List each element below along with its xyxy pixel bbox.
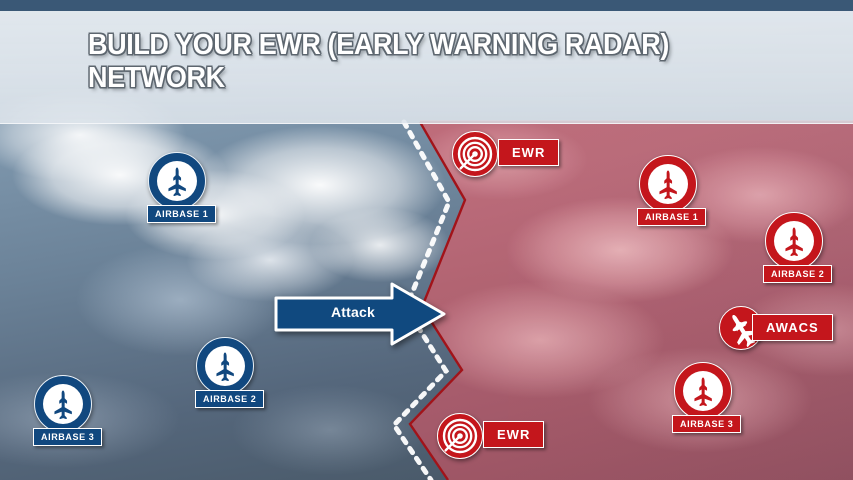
red-airbase-3-label: AIRBASE 3	[672, 415, 741, 433]
red-airbase-2-label: AIRBASE 2	[763, 265, 832, 283]
red-airbase-2-disc	[765, 212, 823, 270]
disc-inner	[774, 221, 814, 261]
attack-arrow-label: Attack	[312, 304, 394, 320]
disc-inner	[438, 414, 482, 458]
red-awacs-label: AWACS	[752, 314, 833, 341]
blue-airbase-1-disc	[148, 152, 206, 210]
disc-inner	[648, 164, 688, 204]
blue-airbase-2-marker[interactable]: AIRBASE 2	[196, 337, 254, 395]
fighter-jet-icon	[162, 166, 192, 196]
red-airbase-3-disc	[674, 362, 732, 420]
disc-inner	[205, 346, 245, 386]
fighter-jet-icon	[48, 389, 78, 419]
red-airbase-1-label: AIRBASE 1	[637, 208, 706, 226]
red-airbase-1-marker[interactable]: AIRBASE 1	[639, 155, 697, 213]
disc-inner	[157, 161, 197, 201]
red-airbase-1-disc	[639, 155, 697, 213]
disc-inner	[43, 384, 83, 424]
red-airbase-2-marker[interactable]: AIRBASE 2	[765, 212, 823, 270]
red-ewr-top-label: EWR	[498, 139, 559, 166]
fighter-jet-icon	[688, 376, 718, 406]
blue-airbase-2-disc	[196, 337, 254, 395]
blue-airbase-2-label: AIRBASE 2	[195, 390, 264, 408]
red-ewr-bottom-disc	[437, 413, 483, 459]
radar-icon	[440, 416, 480, 456]
disc-inner	[453, 132, 497, 176]
fighter-jet-icon	[210, 351, 240, 381]
attack-arrow[interactable]: Attack	[274, 282, 446, 346]
blue-airbase-3-disc	[34, 375, 92, 433]
radar-icon	[455, 134, 495, 174]
red-airbase-3-marker[interactable]: AIRBASE 3	[674, 362, 732, 420]
blue-airbase-1-label: AIRBASE 1	[147, 205, 216, 223]
slide-canvas: BUILD YOUR EWR (EARLY WARNING RADAR) NET…	[0, 0, 853, 480]
page-title: BUILD YOUR EWR (EARLY WARNING RADAR) NET…	[88, 29, 683, 95]
red-ewr-top-disc	[452, 131, 498, 177]
red-ewr-bottom-label: EWR	[483, 421, 544, 448]
red-awacs-marker[interactable]: AWACS	[719, 306, 763, 350]
fighter-jet-icon	[779, 226, 809, 256]
blue-airbase-3-marker[interactable]: AIRBASE 3	[34, 375, 92, 433]
blue-airbase-3-label: AIRBASE 3	[33, 428, 102, 446]
blue-airbase-1-marker[interactable]: AIRBASE 1	[148, 152, 206, 210]
red-ewr-bottom-marker[interactable]: EWR	[437, 413, 483, 459]
red-ewr-top-marker[interactable]: EWR	[452, 131, 498, 177]
disc-inner	[683, 371, 723, 411]
fighter-jet-icon	[653, 169, 683, 199]
top-accent-strip	[0, 0, 853, 11]
